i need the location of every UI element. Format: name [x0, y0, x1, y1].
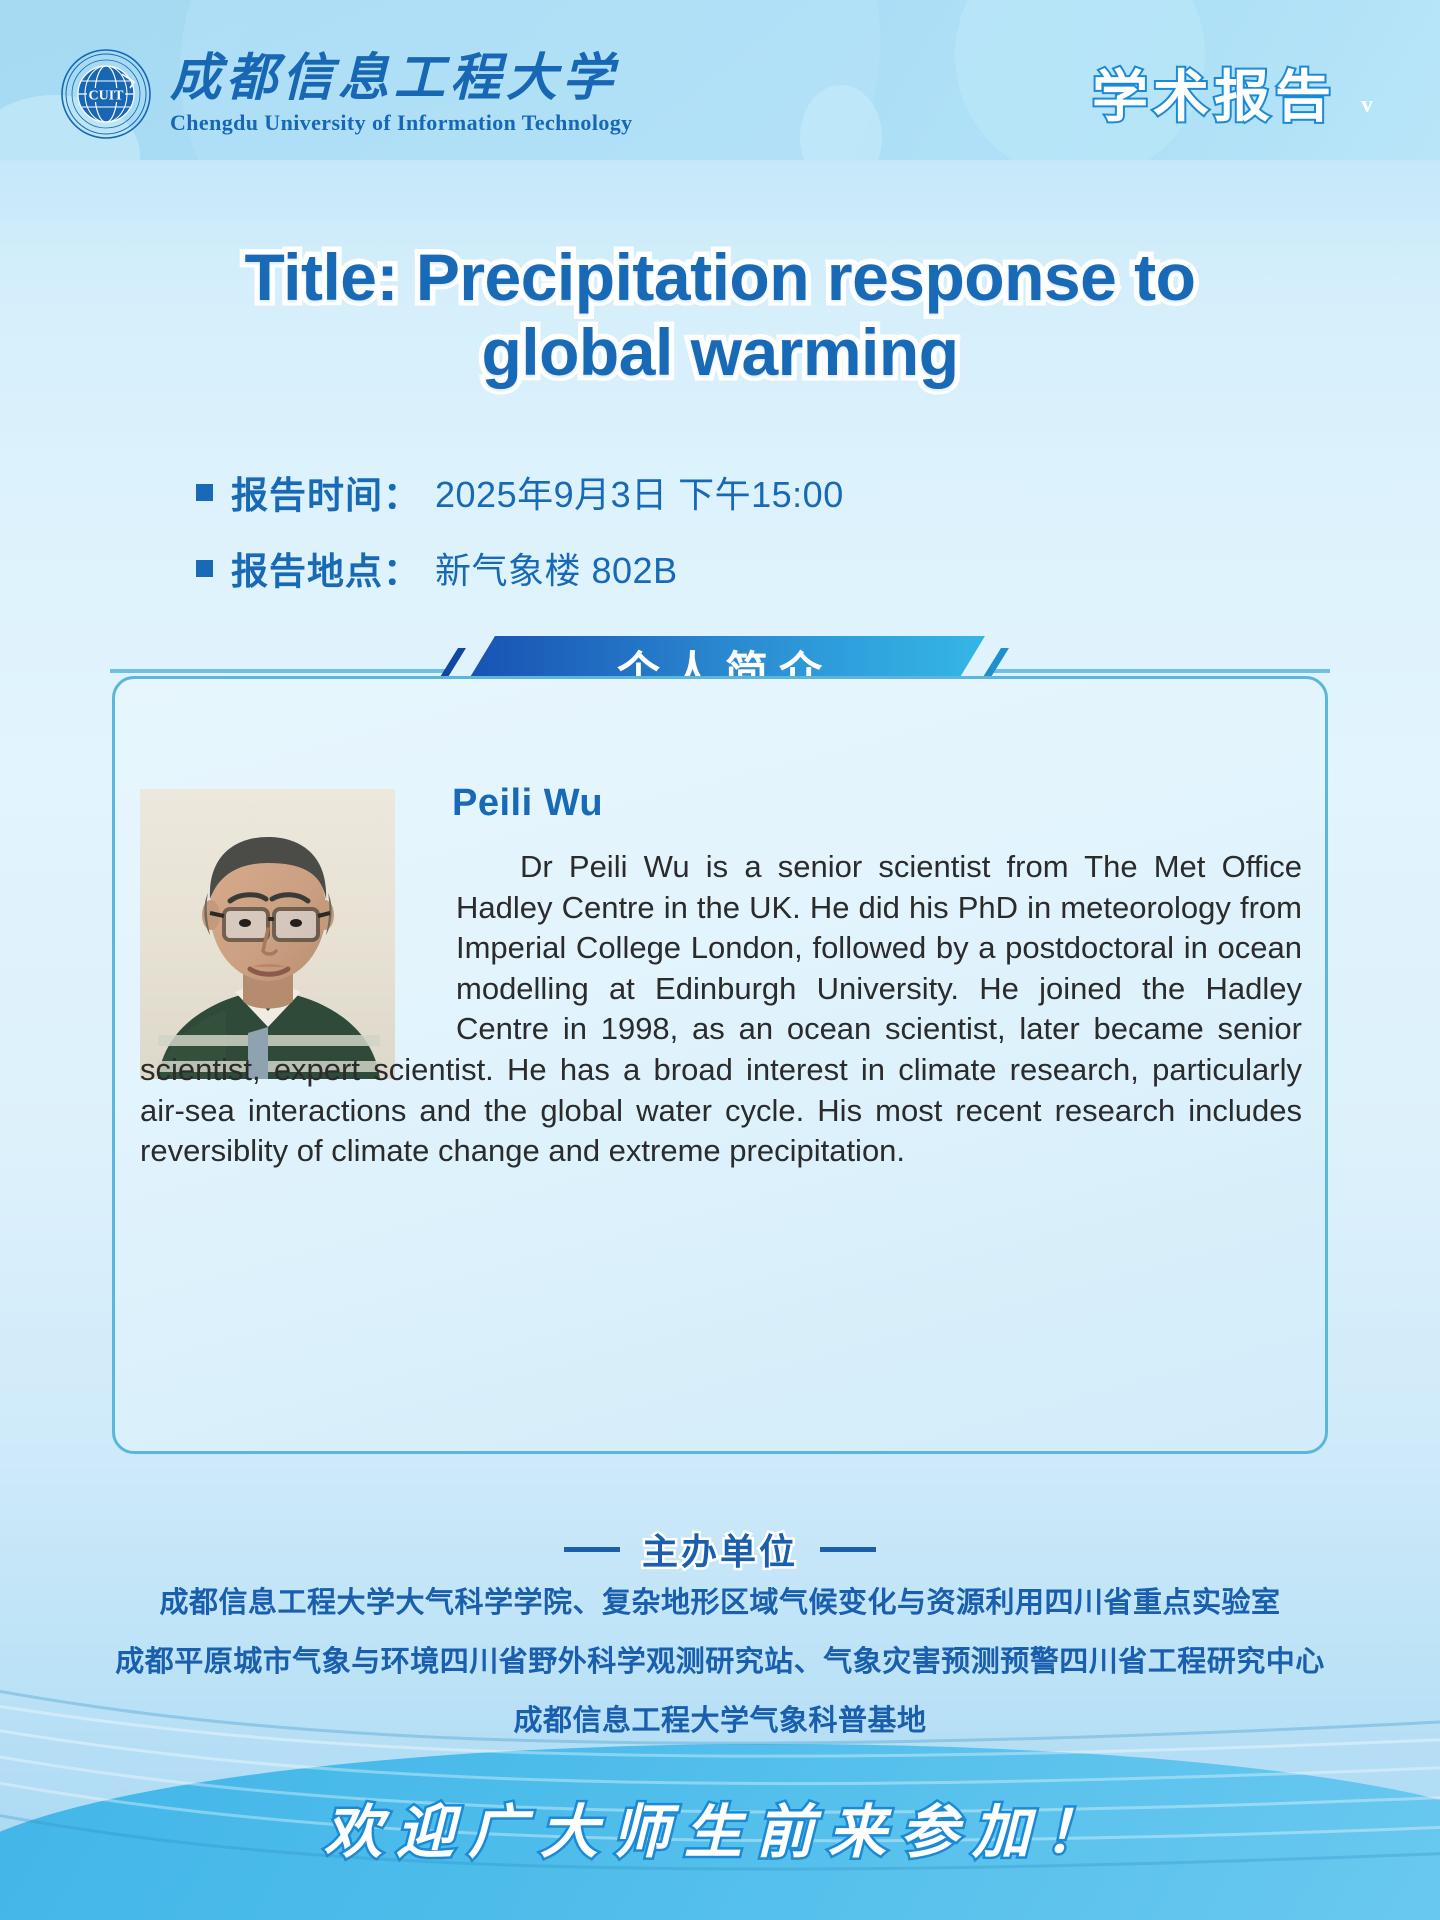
- university-name-block: 成都信息工程大学 Chengdu University of Informati…: [170, 48, 633, 136]
- welcome-message: 欢迎广大师生前来参加！: [0, 1785, 1440, 1869]
- speaker-name: Peili Wu: [452, 782, 603, 825]
- university-name-cn: 成都信息工程大学: [170, 54, 633, 105]
- banner-rule-left: [110, 669, 450, 673]
- page-title: Title: Precipitation response to global …: [0, 240, 1440, 389]
- poster-footer: 欢迎广大师生前来参加！: [0, 1680, 1440, 1920]
- event-venue-label: 报告地点：: [231, 541, 421, 595]
- event-info-list: 报告时间： 2025年9月3日 下午15:00 报告地点： 新气象楼 802B: [196, 465, 844, 617]
- square-bullet-icon: [196, 560, 213, 577]
- event-info-row-venue: 报告地点： 新气象楼 802B: [196, 541, 844, 595]
- square-bullet-icon: [196, 484, 213, 501]
- page-title-line-1: Title: Precipitation response to: [245, 240, 1196, 314]
- university-name-en: Chengdu University of Information Techno…: [170, 110, 633, 136]
- organiser-line: 成都信息工程大学大气科学学院、复杂地形区域气候变化与资源利用四川省重点实验室: [0, 1579, 1440, 1621]
- poster-root: CUIT 成都信息工程大学 Chengdu University of Info…: [0, 0, 1440, 1920]
- poster-header: CUIT 成都信息工程大学 Chengdu University of Info…: [0, 0, 1440, 160]
- badge-v-mark: v: [1350, 88, 1384, 122]
- banner-rule-right: [990, 669, 1330, 673]
- event-venue-value: 新气象楼 802B: [435, 542, 678, 594]
- cuit-seal-icon: CUIT: [60, 48, 152, 140]
- event-time-value: 2025年9月3日 下午15:00: [435, 466, 844, 518]
- svg-text:CUIT: CUIT: [88, 89, 124, 104]
- heading-dash-left: [564, 1547, 620, 1552]
- university-logo-block: CUIT 成都信息工程大学 Chengdu University of Info…: [60, 48, 633, 140]
- organisers-heading: 主办单位: [642, 1523, 798, 1575]
- speaker-bio: Dr Peili Wu is a senior scientist from T…: [140, 847, 1302, 1172]
- profile-card: Peili Wu Dr Peili Wu is a senior scienti…: [112, 676, 1328, 1454]
- organiser-line: 成都平原城市气象与环境四川省野外科学观测研究站、气象灾害预测预警四川省工程研究中…: [0, 1638, 1440, 1680]
- bio-text-wrap-shape: [140, 847, 456, 1029]
- organisers-heading-wrap: 主办单位: [0, 1523, 1440, 1575]
- event-time-label: 报告时间：: [231, 465, 421, 519]
- heading-dash-right: [820, 1547, 876, 1552]
- event-info-row-time: 报告时间： 2025年9月3日 下午15:00: [196, 465, 844, 519]
- page-title-line-2: global warming: [481, 315, 958, 389]
- academic-report-badge: 学术报告: [1092, 52, 1336, 133]
